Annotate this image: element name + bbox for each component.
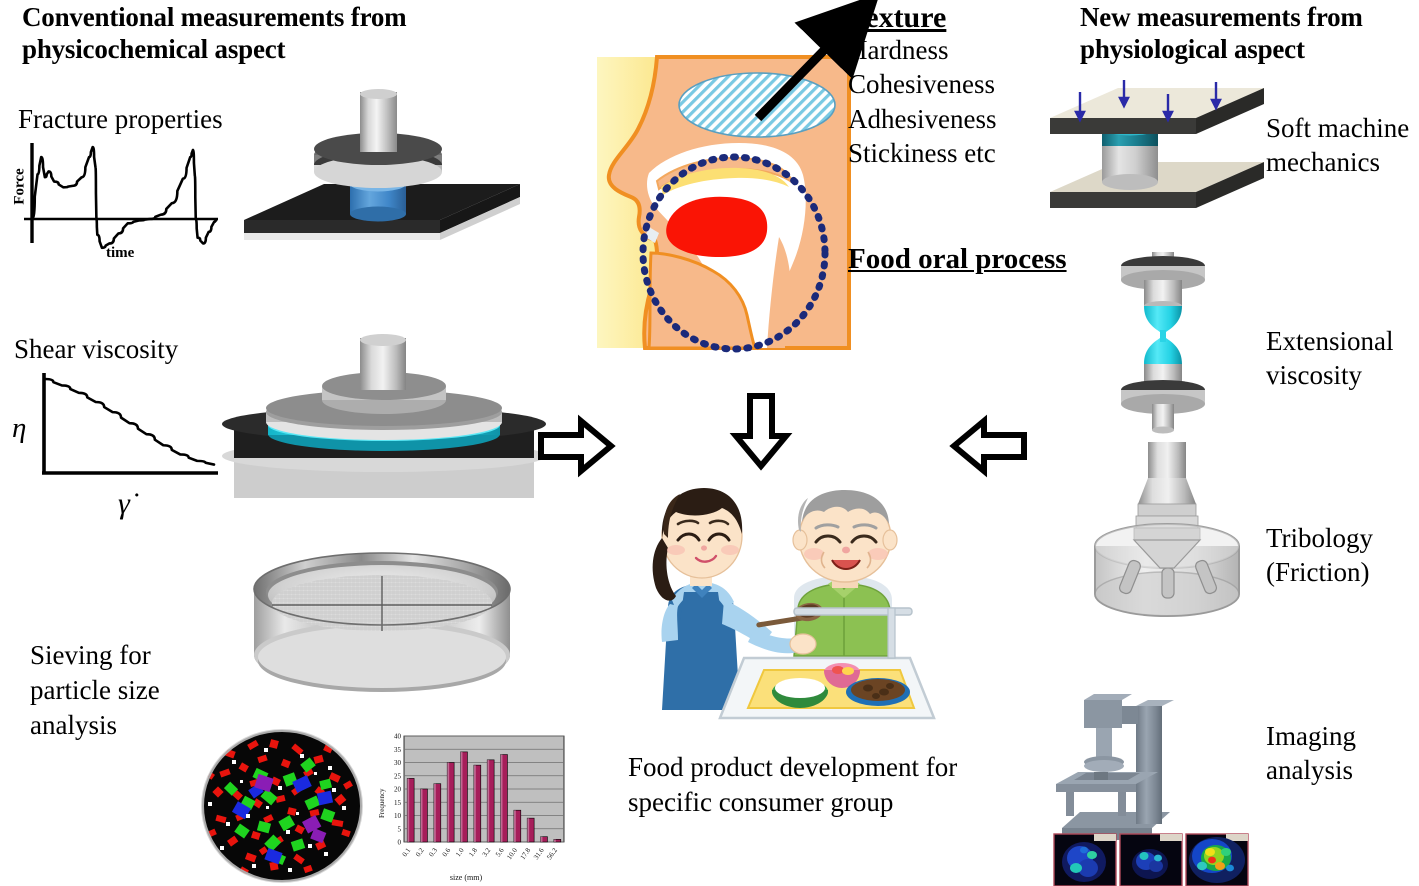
imaging-thumbnail-3 [1186, 834, 1248, 886]
imaging-analysis-label-line2: analysis [1266, 754, 1356, 788]
particle-size-disc-image [196, 726, 368, 886]
tribo-taper [1138, 478, 1196, 504]
histogram-x-tick: 1.0 [454, 846, 466, 858]
histogram-svg: 0510152025303540 0.10.20.30.61.01.83.25.… [374, 728, 579, 886]
fracture-properties-title: Fracture properties [18, 103, 223, 135]
histogram-y-tick: 35 [394, 746, 402, 754]
probe-rod [360, 89, 397, 152]
histogram-bar-highlight [541, 837, 543, 842]
soft-machine-label-line1: Soft machine [1266, 112, 1409, 146]
texture-arrow-svg [740, 20, 860, 130]
texture-item-hardness: Hardness [848, 33, 996, 67]
imaging-analysis-label-line1: Imaging [1266, 720, 1356, 754]
sieving-label: Sieving for particle size analysis [30, 638, 160, 743]
histogram-y-tick: 0 [398, 839, 402, 847]
viscosity-curve [45, 379, 214, 465]
histogram-x-axis-label: size (mm) [450, 873, 483, 882]
soft-machine-mechanics-illustration [1040, 80, 1270, 240]
left-column-header: Conventional measurements from physicoch… [22, 2, 442, 66]
histogram-bar-highlight [461, 752, 463, 842]
fracture-chart-svg [8, 135, 223, 260]
histogram-x-tick: 17.8 [519, 846, 533, 861]
caregiver-svg [648, 480, 948, 730]
histogram-x-tick: 0.6 [441, 846, 453, 858]
texture-item-stickiness: Stickiness etc [848, 136, 996, 170]
extensional-viscosity-svg [1106, 252, 1226, 462]
fracture-properties-chart [8, 135, 223, 260]
histogram-y-axis-label: Frequency [378, 788, 386, 818]
histogram-x-tick: 31.6 [532, 846, 546, 861]
rheometer-svg [234, 338, 534, 498]
soft-machine-svg [1040, 80, 1270, 240]
imaging-analysis-illustration [1040, 700, 1270, 886]
tribology-illustration [1088, 442, 1248, 632]
tribology-label: Tribology (Friction) [1266, 522, 1373, 590]
histogram-bar-highlight [514, 810, 516, 842]
imaging-analysis-svg [1040, 700, 1270, 886]
sieve-svg [248, 543, 516, 711]
rheometer-shaft [360, 334, 406, 390]
texture-pointer-arrow [740, 20, 860, 130]
histogram-x-tick: 5.6 [494, 846, 506, 858]
histogram-x-tick: 56.2 [545, 846, 559, 861]
histogram-y-tick: 5 [398, 825, 402, 833]
arrow-right-to-center [950, 415, 1028, 477]
sieving-label-line1: Sieving for [30, 638, 160, 673]
sieving-label-line2: particle size [30, 673, 160, 708]
right-header-line1: New measurements from [1080, 2, 1419, 34]
fracture-y-axis-label: Force [12, 157, 29, 217]
viscosity-x-axis-label: γ̇ [118, 487, 130, 521]
histogram-bar-highlight [447, 763, 449, 843]
histogram-x-tick: 0.1 [401, 846, 413, 858]
shear-viscosity-chart [8, 365, 223, 495]
outcome-caption-line1: Food product development for [628, 750, 957, 785]
histogram-bar-highlight [474, 765, 476, 842]
fracture-curve [32, 147, 216, 248]
histogram-y-tick: 15 [394, 799, 402, 807]
rheometer-illustration [234, 338, 534, 498]
histogram-bar-highlight [421, 789, 423, 842]
down-pointing-arrow-svg [730, 392, 792, 470]
particle-size-histogram: 0510152025303540 0.10.20.30.61.01.83.25.… [374, 728, 579, 886]
soft-machine-label-line2: mechanics [1266, 146, 1409, 180]
right-pointing-arrow-svg [537, 415, 615, 477]
histogram-y-ticks: 0510152025303540 [394, 733, 402, 847]
texture-analyzer-svg [232, 92, 532, 257]
histogram-y-tick: 30 [394, 759, 402, 767]
histogram-x-ticks: 0.10.20.30.61.01.83.25.610.017.831.656.2 [401, 846, 560, 861]
texture-attribute-list: Hardness Cohesiveness Adhesiveness Stick… [848, 33, 996, 170]
tribology-label-line1: Tribology [1266, 522, 1373, 556]
outcome-caption: Food product development for specific co… [628, 750, 957, 820]
texture-title: Texture [848, 0, 946, 36]
histogram-bar-highlight [501, 755, 503, 842]
imaging-thumbnail-2 [1120, 834, 1182, 886]
extensional-viscosity-illustration [1106, 252, 1226, 462]
histogram-bar-highlight [487, 760, 489, 842]
histogram-x-tick: 10.0 [505, 846, 519, 861]
histogram-x-tick: 0.3 [427, 846, 439, 858]
tribology-label-line2: (Friction) [1266, 556, 1373, 590]
histogram-bar-highlight [407, 778, 409, 842]
main-dish-plate [846, 678, 910, 706]
left-header-line1: Conventional measurements from [22, 2, 442, 34]
ev-lower-shaft [1152, 404, 1174, 430]
histogram-y-tick: 25 [394, 772, 402, 780]
tribology-cup [1095, 524, 1239, 616]
outcome-caption-line2: specific consumer group [628, 785, 957, 820]
histogram-bar-highlight [527, 818, 529, 842]
histogram-x-tick: 3.2 [481, 846, 493, 858]
fracture-x-axis-label: time [106, 245, 134, 262]
left-header-line2: physicochemical aspect [22, 34, 442, 66]
texture-item-cohesiveness: Cohesiveness [848, 67, 996, 101]
tribo-shaft [1148, 442, 1186, 478]
extensional-viscosity-label-line2: viscosity [1266, 359, 1393, 393]
tribology-svg [1088, 442, 1248, 632]
histogram-x-tick: 0.2 [414, 846, 426, 858]
histogram-bar-highlight [554, 839, 556, 842]
extensional-viscosity-label: Extensional viscosity [1266, 325, 1393, 393]
caregiver-feeding-illustration [648, 480, 948, 730]
arrow-top-to-center [730, 392, 792, 470]
histogram-y-tick: 10 [394, 812, 402, 820]
left-pointing-arrow-svg [950, 415, 1028, 477]
viscosity-chart-svg [8, 365, 223, 495]
right-column-header: New measurements from physiological aspe… [1080, 2, 1419, 66]
imaging-thumbnails [1054, 834, 1248, 886]
microscope-head [1084, 694, 1138, 728]
arrow-left-to-center [537, 415, 615, 477]
histogram-y-tick: 40 [394, 733, 402, 741]
test-sieve-illustration [248, 543, 516, 711]
extensional-viscosity-label-line1: Extensional [1266, 325, 1393, 359]
texture-analyzer-illustration [232, 92, 532, 257]
soft-machine-mechanics-label: Soft machine mechanics [1266, 112, 1409, 180]
right-header-line2: physiological aspect [1080, 34, 1419, 66]
histogram-y-tick: 20 [394, 786, 402, 794]
texture-arrow-line [758, 38, 836, 118]
texture-item-adhesiveness: Adhesiveness [848, 102, 996, 136]
imaging-thumbnail-1 [1054, 834, 1116, 886]
microscope-column [1136, 706, 1162, 824]
histogram-bar-highlight [434, 784, 436, 842]
ev-liquid-filament [1144, 306, 1182, 334]
sieving-label-line3: analysis [30, 708, 160, 743]
food-oral-process-title: Food oral process [848, 242, 1067, 277]
histogram-x-tick: 1.8 [467, 846, 479, 858]
imaging-analysis-label: Imaging analysis [1266, 720, 1356, 788]
viscosity-y-axis-label: η [12, 412, 26, 445]
particle-disc-svg [196, 726, 368, 886]
shear-viscosity-title: Shear viscosity [14, 333, 178, 365]
